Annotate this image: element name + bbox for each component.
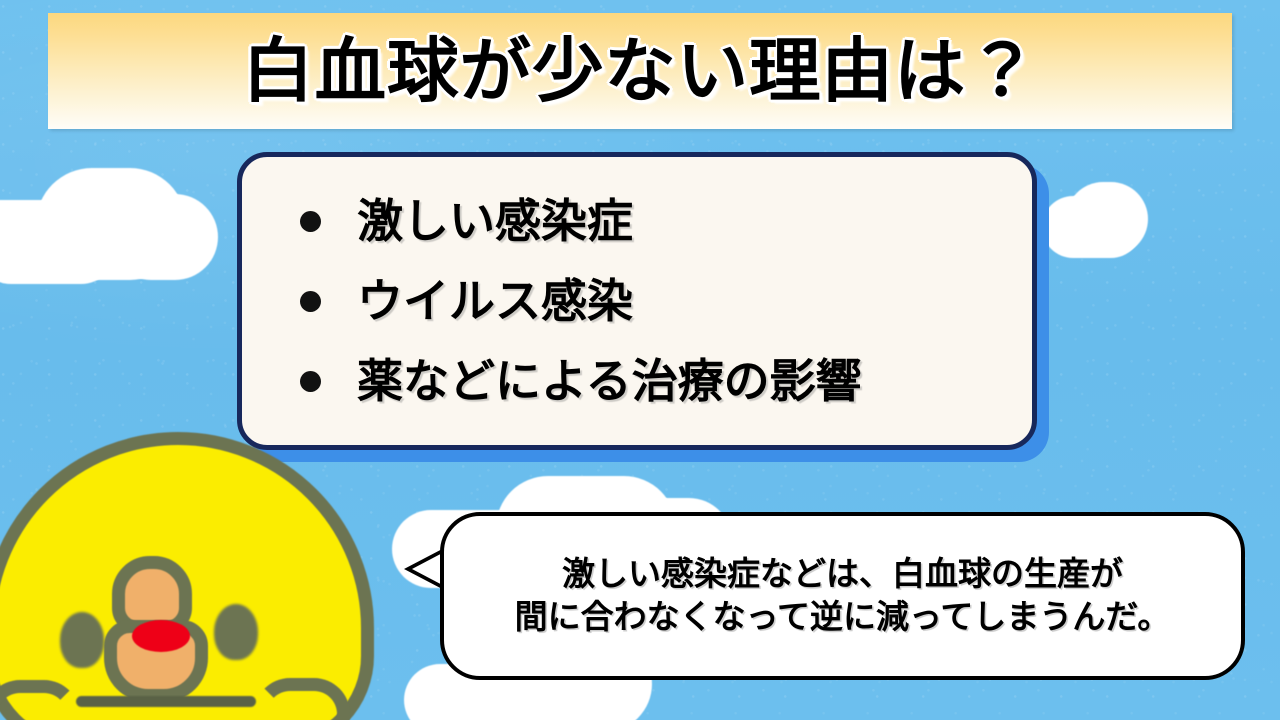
- speech-bubble: 激しい感染症などは、白血球の生産が 間に合わなくなって逆に減ってしまうんだ。: [440, 512, 1245, 680]
- cloud-left: [0, 168, 240, 288]
- bird-character-illustration: [0, 424, 394, 720]
- speech-bubble-line-1: 激しい感染症などは、白血球の生産が: [562, 553, 1123, 596]
- cloud-right: [1042, 182, 1172, 268]
- list-item: 薬などによる治療の影響: [300, 341, 1032, 421]
- cloud-puff: [1066, 182, 1148, 256]
- bird-eye-right: [214, 604, 258, 660]
- speech-bubble-line-2: 間に合わなくなって逆に減ってしまうんだ。: [515, 596, 1171, 639]
- cloud-puff: [108, 194, 218, 280]
- list-item: ウイルス感染: [300, 261, 1032, 341]
- bird-wing-right: [254, 678, 350, 720]
- cloud-puff: [0, 214, 116, 284]
- bullet-item-label: ウイルス感染: [357, 278, 633, 324]
- page-title: 白血球が少ない理由は？: [242, 36, 1039, 106]
- bird-eye-left: [60, 612, 104, 668]
- slide-canvas: 白血球が少ない理由は？ 激しい感染症 ウイルス感染 薬などによる治療の影響 激し…: [0, 0, 1280, 720]
- bullet-item-label: 薬などによる治療の影響: [357, 358, 862, 404]
- bullet-item-label: 激しい感染症: [357, 198, 633, 244]
- bullet-dot-icon: [300, 291, 321, 312]
- list-item: 激しい感染症: [300, 181, 1032, 261]
- bullet-dot-icon: [300, 211, 321, 232]
- bullet-dot-icon: [300, 371, 321, 392]
- bird-tongue: [132, 620, 190, 652]
- bullet-list-box: 激しい感染症 ウイルス感染 薬などによる治療の影響: [237, 152, 1037, 450]
- bird-chest-line: [76, 696, 256, 707]
- title-banner: 白血球が少ない理由は？: [48, 13, 1232, 129]
